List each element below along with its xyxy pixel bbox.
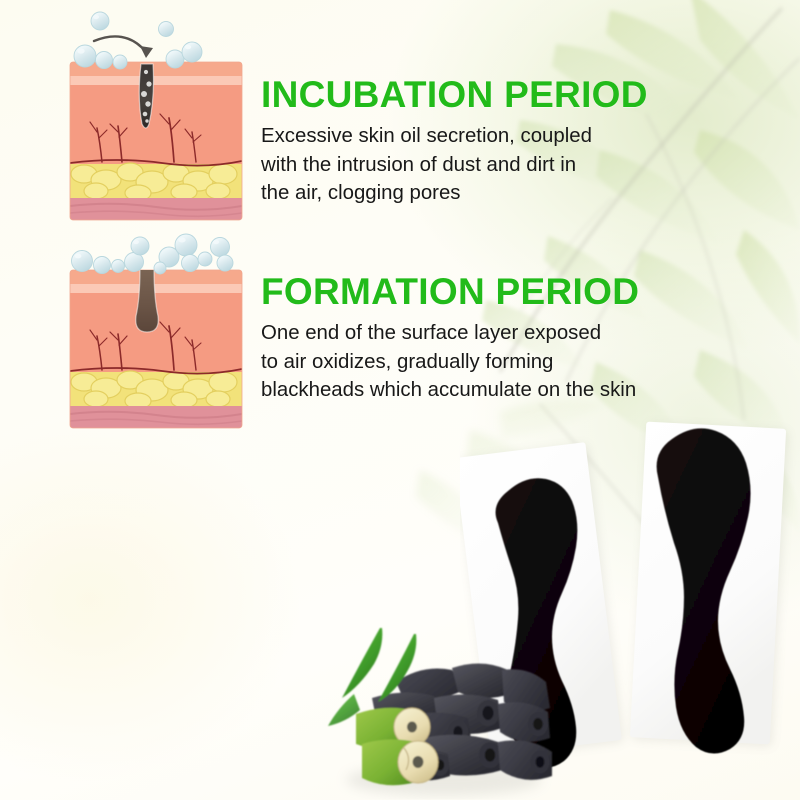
formation-body-line-1: One end of the surface layer exposed	[261, 319, 711, 348]
skin-diagram-incubation	[68, 8, 244, 224]
skin-block	[70, 62, 242, 220]
formation-body-line-2: to air oxidizes, gradually forming	[261, 348, 711, 377]
incubation-text-block: INCUBATION PERIOD Excessive skin oil sec…	[261, 76, 681, 208]
bamboo-charcoal-ingredient-photo	[312, 612, 562, 800]
formation-body: One end of the surface layer exposed to …	[261, 319, 711, 405]
formation-text-block: FORMATION PERIOD One end of the surface …	[261, 273, 711, 405]
bubble-cluster	[72, 234, 234, 274]
incubation-body-line-3: the air, clogging pores	[261, 179, 681, 208]
infographic-page: INCUBATION PERIOD Excessive skin oil sec…	[0, 0, 800, 800]
skin-diagram-formation	[68, 232, 244, 430]
incubation-heading: INCUBATION PERIOD	[261, 76, 681, 113]
incubation-body-line-1: Excessive skin oil secretion, coupled	[261, 122, 681, 151]
bamboo-stalks	[356, 708, 438, 785]
fat-layer	[70, 371, 242, 409]
formation-heading: FORMATION PERIOD	[261, 273, 711, 310]
formation-body-line-3: blackheads which accumulate on the skin	[261, 376, 711, 405]
skin-block	[70, 270, 242, 428]
incubation-body-line-2: with the intrusion of dust and dirt in	[261, 151, 681, 180]
fat-layer	[70, 163, 242, 201]
incubation-body: Excessive skin oil secretion, coupled wi…	[261, 122, 681, 208]
